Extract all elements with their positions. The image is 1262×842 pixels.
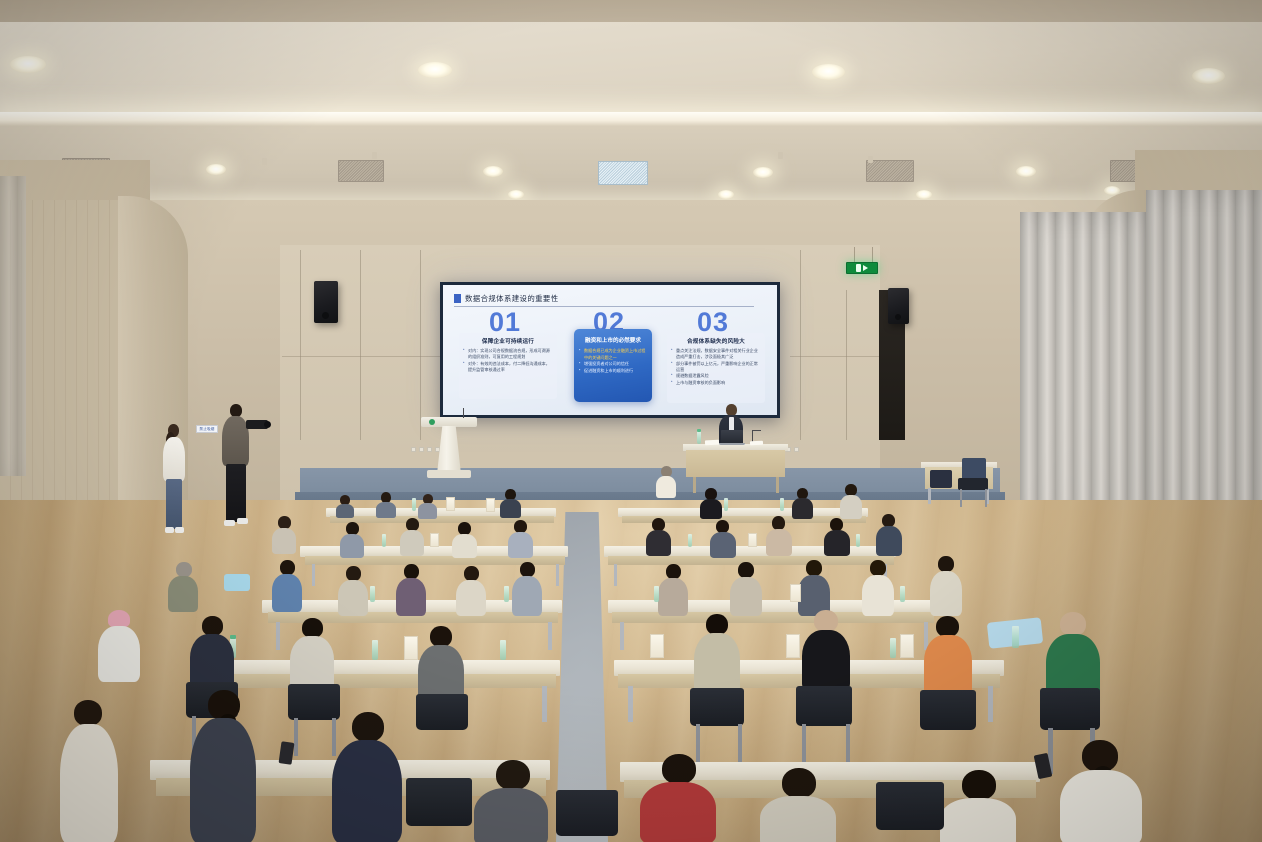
wall-seam — [300, 250, 301, 440]
torso — [98, 626, 140, 682]
staff-shoe — [165, 527, 174, 533]
water-bottle[interactable] — [504, 586, 509, 602]
audience-member — [452, 522, 477, 556]
audience-member — [418, 494, 437, 518]
ceiling-downlight — [1016, 166, 1036, 177]
podium-logo-icon — [429, 419, 435, 425]
head — [74, 700, 102, 726]
gift-package[interactable] — [790, 584, 801, 602]
audience-member — [792, 488, 813, 518]
chair[interactable] — [796, 686, 852, 726]
gift-package[interactable] — [650, 634, 664, 658]
audience-member — [340, 522, 364, 556]
exit-sign — [846, 262, 878, 274]
torso — [190, 718, 256, 842]
staff-jeans — [166, 479, 182, 529]
slide-column-02: 融资和上市的必然要求 数据合规已成为企业融资上市过程中的关键问题之一 增强投资者… — [574, 329, 652, 402]
head — [936, 616, 959, 637]
lecture-hall-scene: 禁止吸烟 数据合规体系建设的重要性 01 02 03 保障企业可持续运行 对内：… — [0, 0, 1262, 842]
projection-screen: 数据合规体系建设的重要性 01 02 03 保障企业可持续运行 对内：实现公司合… — [440, 282, 780, 418]
tote-bag[interactable] — [224, 574, 250, 591]
torso — [792, 498, 813, 519]
torso — [694, 633, 740, 695]
audience-member — [396, 564, 426, 614]
hvac-vent — [338, 160, 384, 182]
head — [782, 768, 816, 798]
head — [496, 760, 530, 790]
chair[interactable] — [876, 782, 944, 830]
torso — [272, 528, 296, 554]
column-02-highlight: 数据合规已成为企业融资上市过程中的关键问题之一 — [584, 348, 645, 360]
torso — [418, 503, 437, 519]
chair[interactable] — [406, 778, 472, 826]
wall-outlet[interactable] — [435, 447, 440, 452]
audience-member — [456, 566, 486, 614]
water-bottle[interactable] — [890, 638, 896, 658]
torso — [396, 578, 426, 616]
head — [430, 626, 452, 647]
ceiling-downlight — [10, 56, 46, 73]
operator-shoe — [224, 520, 235, 526]
water-bottle[interactable] — [856, 534, 860, 547]
presenter-laptop-screen[interactable] — [721, 430, 743, 443]
water-bottle[interactable] — [1012, 626, 1019, 648]
audience-member — [924, 616, 972, 694]
torso — [168, 576, 198, 612]
operator-trousers — [226, 464, 246, 522]
audience-member — [500, 489, 521, 517]
column-03-bullets: 重点关注法规，数据安全事件对相关行业企业造成严重打击，涉及面极其广泛 部分事件被… — [667, 348, 765, 386]
chair-leg — [738, 724, 742, 764]
audience-member — [730, 562, 762, 614]
torso — [730, 577, 762, 616]
chair[interactable] — [690, 688, 744, 726]
water-bottle[interactable] — [370, 586, 375, 602]
chair-leg — [846, 724, 850, 766]
side-chair-leg — [960, 489, 962, 507]
operator-jacket — [222, 416, 249, 466]
exit-sign-rod — [872, 247, 873, 263]
audience-member — [862, 560, 894, 614]
head — [352, 712, 384, 742]
torso — [340, 534, 364, 558]
torso — [1060, 770, 1142, 842]
torso — [766, 529, 792, 556]
audience-member — [508, 520, 533, 556]
left-edge-curtain — [0, 176, 26, 476]
column-01-bullets: 对内：实现公司合规数据流合规，形成可溯源的组织准则，可复用的工程规划 对外：有效… — [459, 348, 557, 373]
desk-leg — [988, 686, 993, 722]
audience-member — [272, 516, 296, 552]
audience-member — [400, 518, 424, 554]
running-man-icon — [856, 264, 861, 272]
operator-shoe — [237, 518, 248, 524]
torso — [658, 578, 688, 616]
ceiling-downlight — [753, 167, 773, 178]
torso — [640, 782, 716, 842]
gift-package[interactable] — [430, 533, 439, 547]
sprinkler-head — [262, 158, 267, 165]
audience-member-with-phone — [1060, 740, 1142, 842]
torso — [456, 580, 486, 616]
torso — [924, 635, 972, 697]
audience-member — [760, 768, 836, 842]
slide-column-03: 合规体系缺失的风险大 重点关注法规，数据安全事件对相关行业企业造成严重打击，涉及… — [667, 333, 765, 403]
ceiling-downlight — [483, 166, 503, 177]
presenter-papers[interactable] — [705, 440, 719, 446]
wall-outlet[interactable] — [794, 447, 799, 452]
gift-package[interactable] — [486, 498, 495, 512]
head — [404, 564, 419, 579]
chair-leg — [294, 718, 298, 756]
ceiling-downlight — [508, 190, 524, 199]
torso — [272, 574, 302, 612]
arrow-right-icon — [863, 265, 868, 271]
side-chair-leg — [985, 489, 987, 507]
podium-microphone — [463, 408, 464, 418]
water-bottle[interactable] — [654, 586, 659, 602]
desk-leg — [620, 622, 624, 650]
torso — [930, 571, 962, 616]
audience-member — [694, 614, 740, 692]
torso — [452, 534, 477, 558]
audience-member — [646, 518, 671, 554]
column-01-bullet: 对外：有效的违法成本，付二降低沟通成本，提升监管审核通过率 — [463, 361, 553, 374]
podium-base — [427, 470, 471, 478]
audience-member — [802, 610, 850, 690]
audience-member — [840, 484, 862, 518]
head — [302, 618, 323, 638]
audience-member — [658, 564, 688, 614]
audience-member — [876, 514, 902, 554]
chair-leg — [802, 724, 806, 766]
side-chair[interactable] — [958, 478, 988, 490]
wall-notice-sign: 禁止吸烟 — [196, 425, 218, 433]
water-bottle[interactable] — [372, 640, 378, 660]
wall-outlet[interactable] — [427, 447, 432, 452]
column-02-heading: 融资和上市的必然要求 — [574, 336, 652, 344]
wall-seam — [846, 290, 847, 440]
ceiling-downlight — [812, 64, 845, 80]
audience-member — [710, 520, 736, 556]
audience-member — [60, 700, 118, 842]
presenter-laptop-base[interactable] — [719, 443, 745, 445]
desk-leg — [614, 564, 617, 586]
ceiling-downlight — [718, 190, 734, 199]
head — [520, 562, 535, 577]
head — [666, 564, 681, 579]
head — [662, 754, 696, 784]
chair[interactable] — [556, 790, 618, 836]
gift-package[interactable] — [404, 636, 418, 660]
head — [464, 566, 479, 581]
column-02-bullet: 促进融资和上市的顺利进行 — [579, 368, 647, 375]
desk-leg — [312, 564, 315, 586]
audience-member — [190, 616, 234, 688]
audience-member — [766, 516, 792, 554]
head-table-leg — [776, 477, 779, 493]
bald-head — [1060, 612, 1086, 636]
side-chair[interactable] — [962, 458, 986, 480]
bald-head — [814, 610, 838, 632]
audience-member — [272, 560, 302, 610]
audience-member — [168, 562, 198, 610]
audience-member — [512, 562, 542, 614]
wall-outlet[interactable] — [419, 447, 424, 452]
wall-outlet[interactable] — [411, 447, 416, 452]
chair[interactable] — [416, 694, 468, 730]
ceiling-downlight — [1192, 68, 1225, 84]
slide-surface: 数据合规体系建设的重要性 01 02 03 保障企业可持续运行 对内：实现公司合… — [443, 285, 777, 415]
staff-jacket — [163, 437, 185, 481]
torso — [710, 532, 736, 558]
wall-seam — [790, 356, 882, 357]
torso — [840, 495, 862, 519]
torso — [646, 530, 671, 556]
audience-member — [930, 556, 962, 614]
ceiling-cove-light — [0, 112, 1262, 126]
column-03-bullet: 上市与融资审核的负面影响 — [671, 380, 761, 386]
torso — [500, 499, 521, 518]
water-bottle[interactable] — [412, 498, 416, 511]
water-bottle[interactable] — [780, 498, 784, 511]
audience-member — [940, 770, 1016, 842]
bottle-cap — [697, 429, 701, 432]
side-table-leg — [928, 488, 931, 504]
head — [346, 566, 361, 581]
slide-title-marker — [454, 294, 461, 303]
audience-member — [798, 560, 830, 614]
speaker-cone — [322, 312, 329, 319]
audience-member — [700, 488, 722, 518]
ceiling-downlight — [916, 190, 932, 199]
torso — [338, 580, 368, 616]
column-03-heading: 合规体系缺失的风险大 — [667, 337, 765, 345]
chair[interactable] — [1040, 688, 1100, 730]
desk-leg — [556, 564, 559, 586]
exit-sign-rod — [854, 247, 855, 263]
column-01-bullet: 对内：实现公司合规数据流合规，形成可溯源的组织准则，可复用的工程规划 — [463, 348, 553, 361]
gift-package[interactable] — [786, 634, 800, 658]
sprinkler-head — [778, 152, 783, 159]
torso — [760, 796, 836, 842]
head — [870, 560, 886, 576]
ceiling-downlight — [418, 62, 452, 78]
head — [962, 770, 996, 800]
audience-member — [640, 754, 716, 842]
audience-member — [376, 492, 396, 517]
head — [938, 556, 954, 572]
audience-member — [418, 626, 464, 702]
slide-title: 数据合规体系建设的重要性 — [465, 293, 559, 304]
water-bottle[interactable] — [697, 431, 701, 444]
torso — [876, 526, 902, 556]
sprinkler-head — [868, 156, 873, 163]
torso — [336, 504, 354, 518]
desk-leg — [628, 686, 633, 722]
column-03-bullet: 部分事件被罚以上亿元，严重影响企业的正常运营 — [671, 361, 761, 374]
ceiling-downlight — [206, 164, 226, 175]
column-02-bullets: 数据合规已成为企业融资上市过程中的关键问题之一 增强投资者对公司的信任 促进融资… — [574, 348, 652, 374]
torso — [508, 532, 533, 558]
audience-member — [98, 610, 140, 680]
torso — [700, 499, 722, 519]
wall-seam — [360, 250, 361, 440]
torso — [940, 798, 1016, 842]
presenter-papers[interactable] — [750, 441, 763, 446]
gift-package[interactable] — [748, 533, 757, 547]
gift-package[interactable] — [446, 497, 455, 511]
head — [706, 614, 728, 635]
side-chair-2[interactable] — [930, 470, 952, 488]
sprinkler-head — [1070, 170, 1075, 177]
gift-package[interactable] — [900, 634, 914, 658]
hvac-vent — [866, 160, 914, 182]
audience-member — [1046, 612, 1100, 698]
slide-column-01: 保障企业可持续运行 对内：实现公司合规数据流合规，形成可溯源的组织准则，可复用的… — [459, 333, 557, 399]
head — [806, 560, 822, 576]
head — [772, 516, 785, 530]
torso — [512, 576, 542, 616]
wall-seam — [282, 356, 442, 357]
camera-lens — [264, 421, 271, 428]
head — [738, 562, 754, 578]
audience-member — [336, 495, 354, 517]
water-bottle[interactable] — [688, 534, 692, 547]
speaker-cone — [895, 314, 901, 320]
water-bottle[interactable] — [724, 498, 728, 511]
audience-member — [656, 466, 676, 496]
torso — [862, 575, 894, 616]
sprinkler-head — [372, 152, 377, 159]
water-bottle[interactable] — [382, 534, 386, 547]
audience-member — [290, 618, 334, 690]
column-01-heading: 保障企业可持续运行 — [459, 337, 557, 345]
torso — [60, 724, 118, 842]
column-03-bullet: 重点关注法规，数据安全事件对相关行业企业造成严重打击，涉及面极其广泛 — [671, 348, 761, 361]
audience-member — [474, 760, 548, 842]
audience-member — [190, 690, 256, 842]
head-gray — [176, 562, 192, 577]
torso — [474, 788, 548, 842]
head — [280, 560, 295, 575]
table-microphone — [752, 430, 761, 431]
desk-apron — [216, 674, 556, 688]
desk-leg — [276, 622, 280, 650]
wall-seam — [800, 250, 801, 440]
slide-title-row: 数据合规体系建设的重要性 — [454, 293, 754, 304]
torso — [824, 530, 850, 556]
water-bottle[interactable] — [500, 640, 506, 660]
audience-member — [338, 566, 368, 614]
audience-member — [824, 518, 850, 554]
head-table-body — [686, 450, 785, 477]
chair[interactable] — [920, 690, 976, 730]
desk-leg — [548, 622, 552, 650]
standing-staff — [162, 424, 186, 552]
water-bottle[interactable] — [900, 586, 905, 602]
hvac-vent-lit — [598, 161, 648, 185]
column-02-bullet: 数据合规已成为企业融资上市过程中的关键问题之一 — [579, 348, 647, 361]
audience-member — [332, 712, 402, 842]
torso — [400, 530, 424, 556]
torso — [376, 502, 396, 518]
head-table-leg — [693, 477, 696, 493]
torso — [802, 630, 850, 692]
staff-shoe — [175, 527, 184, 533]
head — [202, 616, 223, 636]
torso — [332, 740, 402, 842]
wall-seam — [420, 250, 421, 440]
desk-leg — [542, 686, 547, 722]
torso — [656, 476, 676, 498]
